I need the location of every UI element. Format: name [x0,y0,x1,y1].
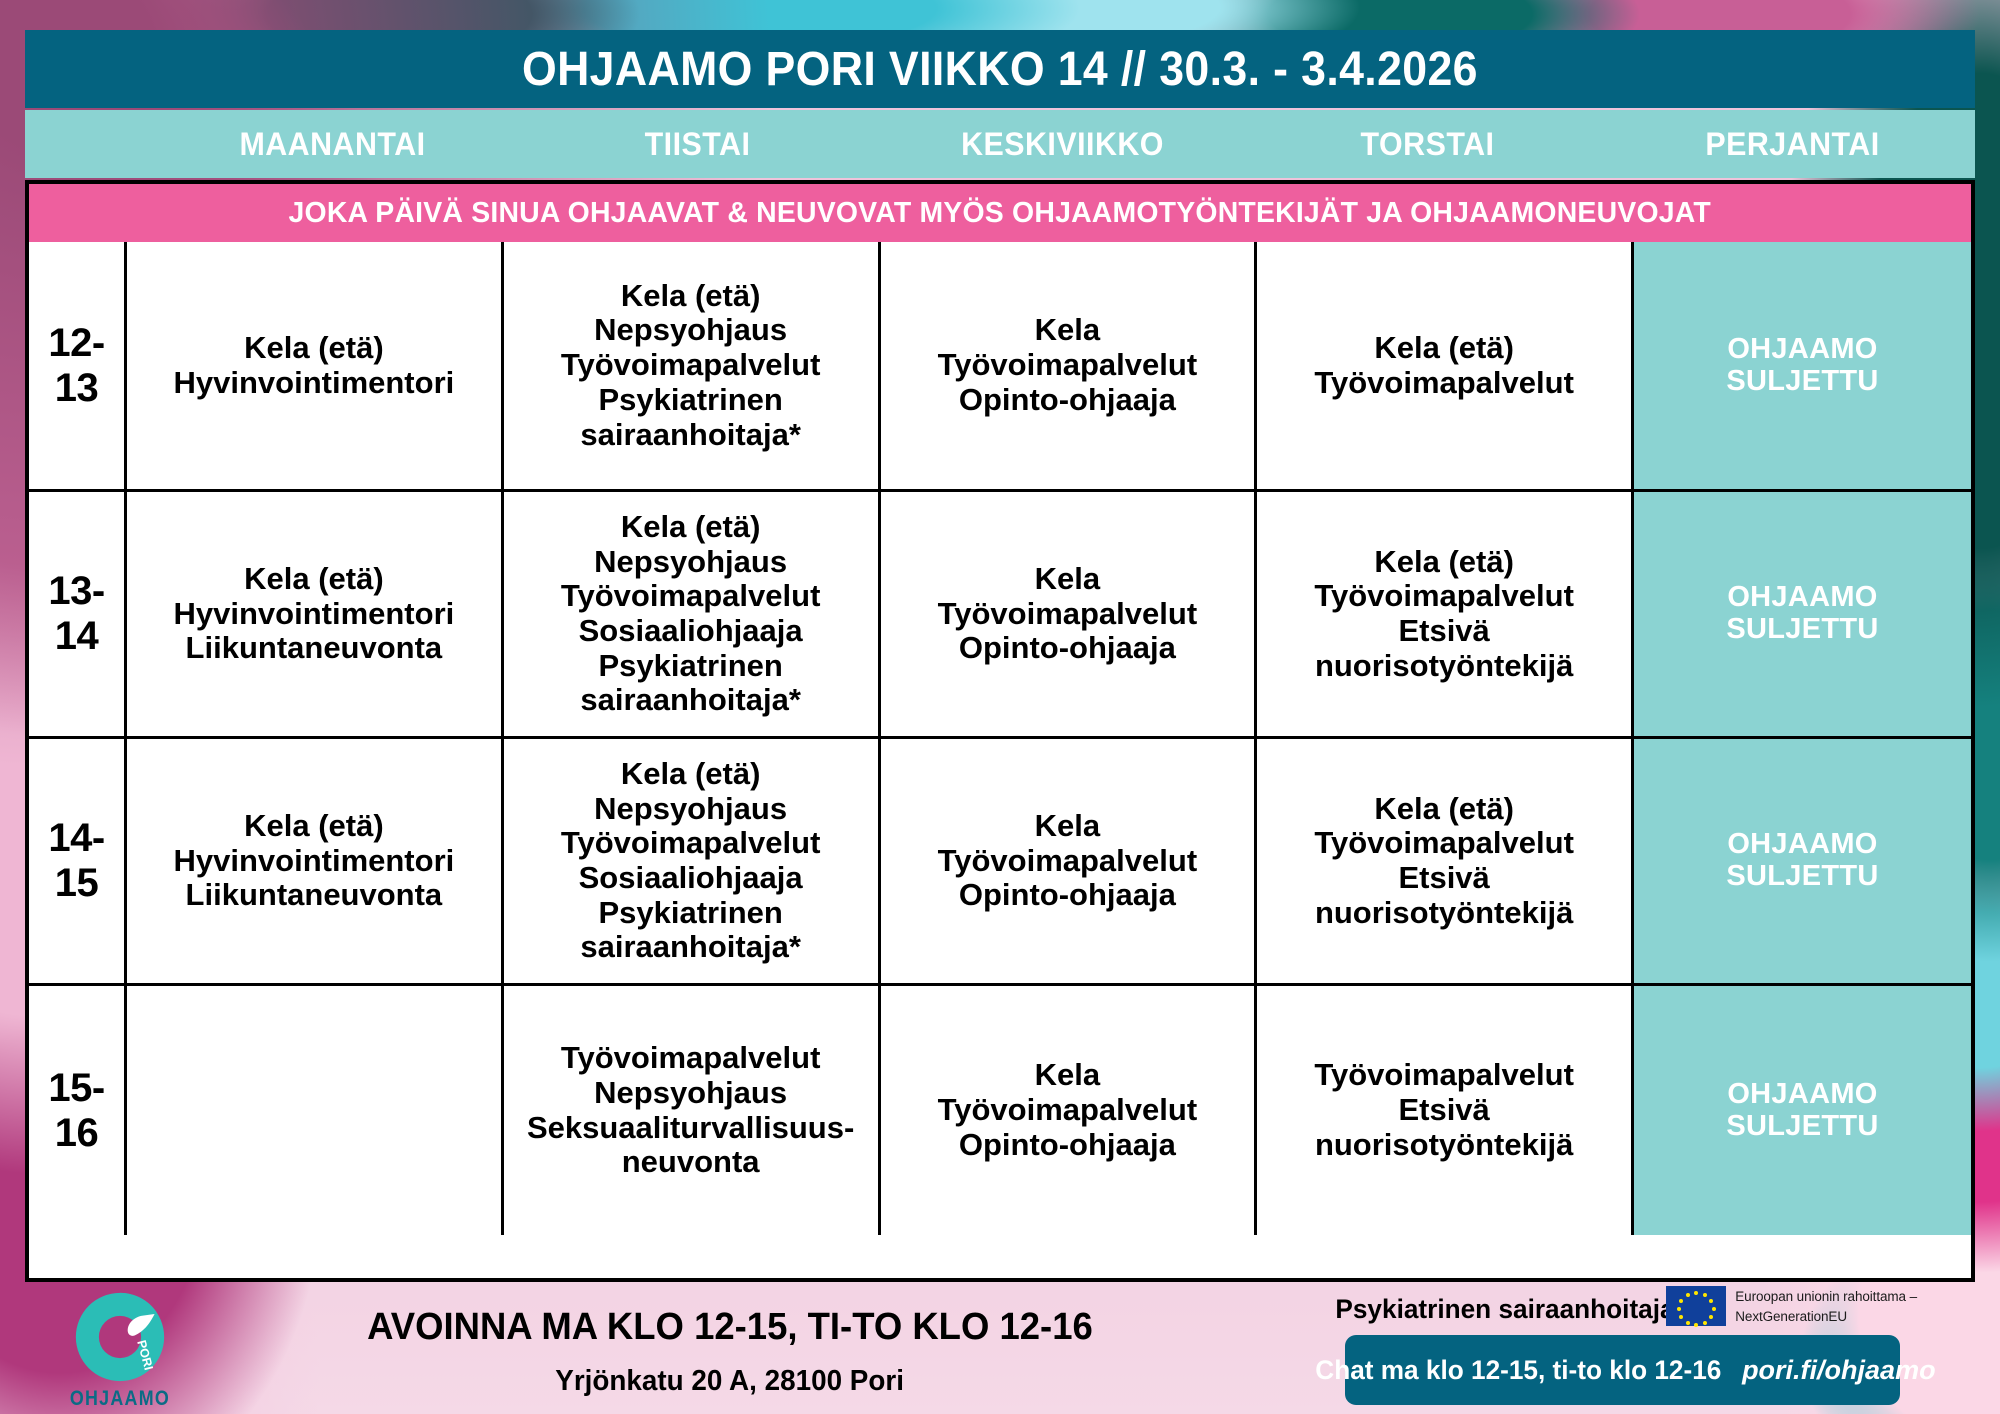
eu-funding-logo: Euroopan unionin rahoittama – NextGenera… [1666,1286,1917,1326]
day-header-keskiviikko: KESKIVIIKKO [889,110,1236,178]
daily-guidance-banner-text: JOKA PÄIVÄ SINUA OHJAAVAT & NEUVOVAT MYÖ… [289,197,1711,230]
cell-keskiviikko-14-15: Kela Työvoimapalvelut Opinto-ohjaaja [881,739,1258,983]
row-time-label: 14-15 [29,739,127,983]
weekday-header-row: MAANANTAI TIISTAI KESKIVIIKKO TORSTAI PE… [25,110,1975,178]
cell-tiistai-12-13: Kela (etä) Nepsyohjaus Työvoimapalvelut … [504,242,881,489]
opening-hours-block: AVOINNA MA KLO 12-15, TI-TO KLO 12-16 Yr… [215,1282,1245,1414]
day-header-tiistai: TIISTAI [524,110,871,178]
daily-guidance-banner: JOKA PÄIVÄ SINUA OHJAAVAT & NEUVOVAT MYÖ… [25,180,1975,242]
day-header-perjantai: PERJANTAI [1619,110,1966,178]
weekly-schedule-poster: OHJAAMO PORI VIIKKO 14 // 30.3. - 3.4.20… [0,0,2000,1414]
cell-keskiviikko-15-16: Kela Työvoimapalvelut Opinto-ohjaaja [881,986,1258,1235]
cell-maanantai-15-16 [127,986,504,1235]
row-time-label: 12-13 [29,242,127,489]
day-header-maanantai: MAANANTAI [159,110,506,178]
cell-perjantai-15-16-closed: OHJAAMO SULJETTU [1634,986,1971,1235]
address-text: Yrjönkatu 20 A, 28100 Pori [556,1365,905,1398]
poster-footer: PORI OHJAAMO AVOINNA MA KLO 12-15, TI-TO… [25,1282,1975,1414]
cell-maanantai-14-15: Kela (etä) Hyvinvointimentori Liikuntane… [127,739,504,983]
ohjaamo-logo-wordmark: OHJAAMO [70,1387,170,1411]
ohjaamo-logo: PORI OHJAAMO [25,1282,215,1414]
page-title: OHJAAMO PORI VIIKKO 14 // 30.3. - 3.4.20… [522,42,1478,97]
psychiatric-nurse-note: Psykiatrinen sairaanhoitaja* [1335,1294,1684,1325]
cell-torstai-15-16: Työvoimapalvelut Etsivä nuorisotyöntekij… [1257,986,1634,1235]
day-header-torstai: TORSTAI [1254,110,1601,178]
cell-torstai-14-15: Kela (etä) Työvoimapalvelut Etsivä nuori… [1257,739,1634,983]
cell-maanantai-12-13: Kela (etä) Hyvinvointimentori [127,242,504,489]
table-row: 13-14 Kela (etä) Hyvinvointimentori Liik… [29,492,1971,739]
cell-perjantai-14-15-closed: OHJAAMO SULJETTU [1634,739,1971,983]
cell-keskiviikko-13-14: Kela Työvoimapalvelut Opinto-ohjaaja [881,492,1258,736]
cell-torstai-13-14: Kela (etä) Työvoimapalvelut Etsivä nuori… [1257,492,1634,736]
schedule-table: 12-13 Kela (etä) Hyvinvointimentori Kela… [25,242,1975,1282]
footer-right-block: Psykiatrinen sairaanhoitaja* Euroo [1245,1282,1975,1414]
cell-perjantai-12-13-closed: OHJAAMO SULJETTU [1634,242,1971,489]
eu-flag-icon [1666,1286,1726,1326]
chat-button[interactable]: Chat ma klo 12-15, ti-to klo 12-16 pori.… [1345,1335,1900,1405]
eu-funding-text: Euroopan unionin rahoittama – NextGenera… [1735,1286,1917,1326]
table-row: 12-13 Kela (etä) Hyvinvointimentori Kela… [29,242,1971,492]
cell-perjantai-13-14-closed: OHJAAMO SULJETTU [1634,492,1971,736]
opening-hours-text: AVOINNA MA KLO 12-15, TI-TO KLO 12-16 [367,1306,1093,1349]
cell-tiistai-14-15: Kela (etä) Nepsyohjaus Työvoimapalvelut … [504,739,881,983]
time-column-spacer [25,110,150,178]
cell-tiistai-13-14: Kela (etä) Nepsyohjaus Työvoimapalvelut … [504,492,881,736]
chat-url-link[interactable]: pori.fi/ohjaamo [1742,1355,1936,1386]
row-time-label: 13-14 [29,492,127,736]
row-time-label: 15-16 [29,986,127,1235]
cell-keskiviikko-12-13: Kela Työvoimapalvelut Opinto-ohjaaja [881,242,1258,489]
poster-title-bar: OHJAAMO PORI VIIKKO 14 // 30.3. - 3.4.20… [25,30,1975,108]
cell-torstai-12-13: Kela (etä) Työvoimapalvelut [1257,242,1634,489]
cell-maanantai-13-14: Kela (etä) Hyvinvointimentori Liikuntane… [127,492,504,736]
cell-tiistai-15-16: Työvoimapalvelut Nepsyohjaus Seksuaalitu… [504,986,881,1235]
ohjaamo-ring-icon: PORI [72,1289,168,1385]
table-row: 15-16 Työvoimapalvelut Nepsyohjaus Seksu… [29,986,1971,1235]
table-row: 14-15 Kela (etä) Hyvinvointimentori Liik… [29,739,1971,986]
chat-hours-text: Chat ma klo 12-15, ti-to klo 12-16 [1316,1355,1722,1386]
